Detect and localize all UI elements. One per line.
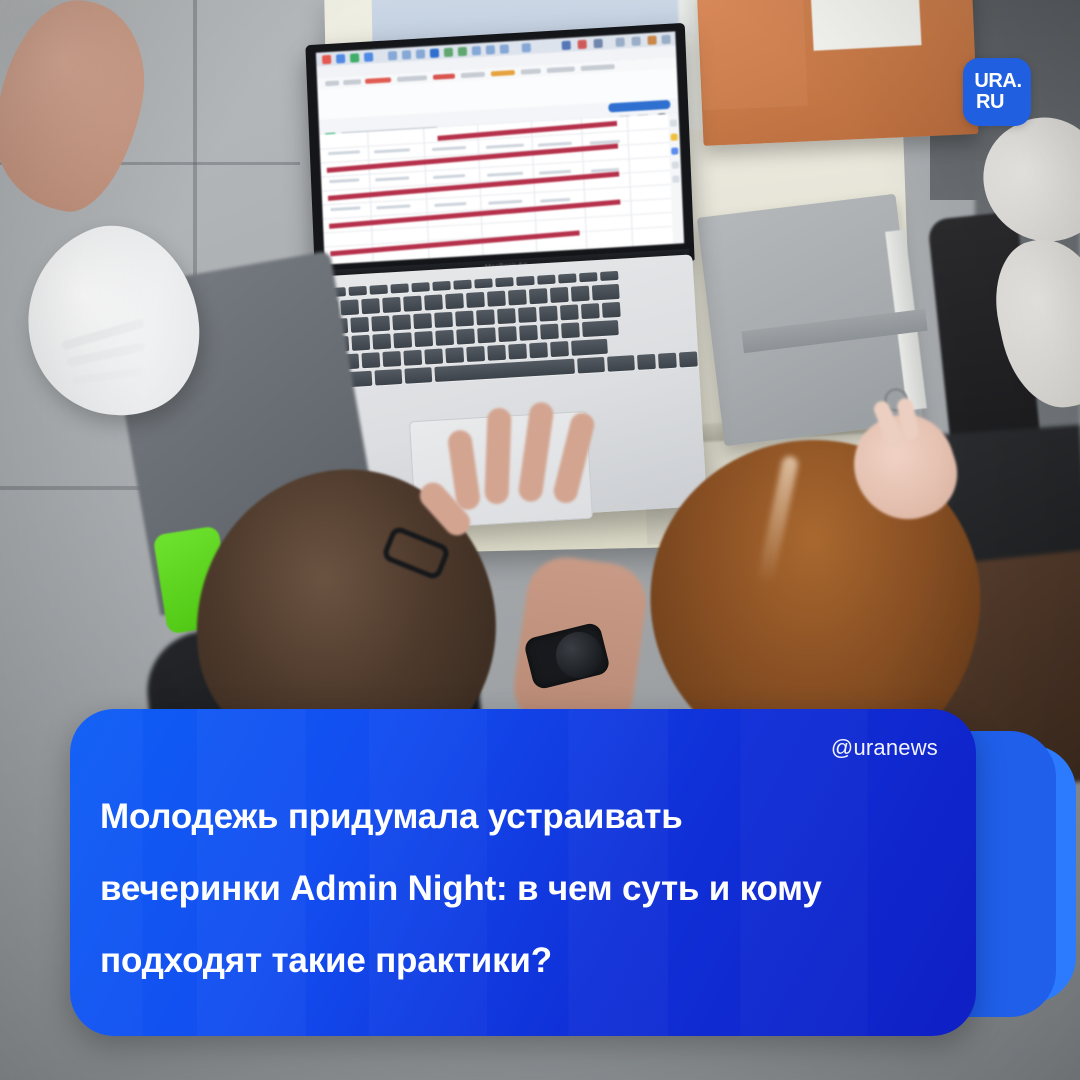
logo-text-line1: URA.	[974, 71, 1021, 92]
headline-line-3: подходят такие практики?	[100, 925, 952, 997]
ura-ru-logo[interactable]: URA. RU	[963, 58, 1031, 126]
headline-line-2: вечеринки Admin Night: в чем суть и кому	[100, 853, 952, 925]
headline-line-1: Молодежь придумала устраивать	[100, 781, 952, 853]
logo-text-line2: RU	[976, 92, 1004, 113]
headline-card-stack: @uranews Молодежь придумала устраивать в…	[70, 709, 1010, 1039]
page-title: Молодежь придумала устраивать вечеринки …	[100, 781, 952, 997]
headline-card: @uranews Молодежь придумала устраивать в…	[70, 709, 976, 1036]
social-news-card: MacBook Air	[0, 0, 1080, 1080]
social-handle[interactable]: @uranews	[831, 735, 938, 761]
